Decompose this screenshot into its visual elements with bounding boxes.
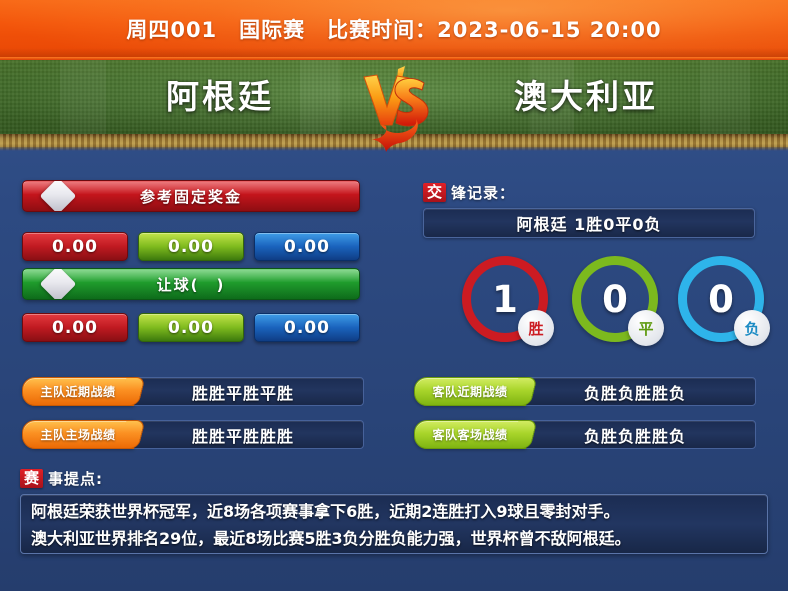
h2h-draw-badge: 平 bbox=[628, 310, 664, 346]
fixed-odd-draw[interactable]: 0.00 bbox=[138, 232, 244, 261]
home-recent-form-value: 胜胜平胜平胜 bbox=[122, 377, 364, 406]
h2h-section-title: 交 锋记录： bbox=[423, 182, 515, 202]
away-venue-form-label: 客队客场战绩 bbox=[414, 420, 526, 449]
tips-section-title: 赛 事提点: bbox=[20, 468, 103, 488]
h2h-ring-draw: 0 平 bbox=[572, 256, 658, 342]
teams-row: 阿根廷 澳大利亚 bbox=[0, 57, 788, 137]
h2h-loss-badge: 负 bbox=[734, 310, 770, 346]
fixed-odd-home[interactable]: 0.00 bbox=[22, 232, 128, 261]
away-venue-form-row: 客队客场战绩 负胜负胜胜负 bbox=[414, 420, 754, 447]
handicap-odd-home[interactable]: 0.00 bbox=[22, 313, 128, 342]
match-header-bar: 周四001 国际赛 比赛时间：2023-06-15 20:00 bbox=[0, 0, 788, 57]
handicap-header: 让球( ) bbox=[22, 268, 360, 300]
home-venue-form-label: 主队主场战绩 bbox=[22, 420, 134, 449]
home-venue-form-row: 主队主场战绩 胜胜平胜胜胜 bbox=[22, 420, 362, 447]
tips-box: 阿根廷荣获世界杯冠军，近8场各项赛事拿下6胜，近期2连胜打入9球且零封对手。 澳… bbox=[20, 494, 768, 554]
match-header-text: 周四001 国际赛 比赛时间：2023-06-15 20:00 bbox=[0, 0, 788, 57]
tips-title-chip: 赛 bbox=[20, 469, 43, 488]
fixed-prize-header: 参考固定奖金 bbox=[22, 180, 360, 212]
home-venue-form-value: 胜胜平胜胜胜 bbox=[122, 420, 364, 449]
match-preview-screen: 周四001 国际赛 比赛时间：2023-06-15 20:00 阿根廷 澳大利亚 bbox=[0, 0, 788, 591]
h2h-ring-loss: 0 负 bbox=[678, 256, 764, 342]
away-venue-form-value: 负胜负胜胜负 bbox=[514, 420, 756, 449]
fixed-odd-away[interactable]: 0.00 bbox=[254, 232, 360, 261]
handicap-odd-away[interactable]: 0.00 bbox=[254, 313, 360, 342]
vs-icon bbox=[352, 61, 438, 153]
h2h-win-badge: 胜 bbox=[518, 310, 554, 346]
away-recent-form-value: 负胜负胜胜负 bbox=[514, 377, 756, 406]
away-recent-form-row: 客队近期战绩 负胜负胜胜负 bbox=[414, 377, 754, 404]
away-recent-form-label: 客队近期战绩 bbox=[414, 377, 526, 406]
home-recent-form-label: 主队近期战绩 bbox=[22, 377, 134, 406]
h2h-ring-win: 1 胜 bbox=[462, 256, 548, 342]
home-team-name: 阿根廷 bbox=[80, 73, 360, 121]
h2h-title-rest: 锋记录： bbox=[451, 182, 515, 203]
tips-line-1: 阿根廷荣获世界杯冠军，近8场各项赛事拿下6胜，近期2连胜打入9球且零封对手。 bbox=[31, 498, 757, 525]
h2h-title-chip: 交 bbox=[423, 183, 446, 202]
tips-title-rest: 事提点: bbox=[48, 468, 103, 489]
away-team-name: 澳大利亚 bbox=[446, 73, 726, 121]
handicap-odd-draw[interactable]: 0.00 bbox=[138, 313, 244, 342]
h2h-summary: 阿根廷 1胜0平0负 bbox=[423, 208, 755, 238]
tips-line-2: 澳大利亚世界排名29位，最近8场比赛5胜3负分胜负能力强，世界杯曾不敌阿根廷。 bbox=[31, 525, 757, 552]
home-recent-form-row: 主队近期战绩 胜胜平胜平胜 bbox=[22, 377, 362, 404]
